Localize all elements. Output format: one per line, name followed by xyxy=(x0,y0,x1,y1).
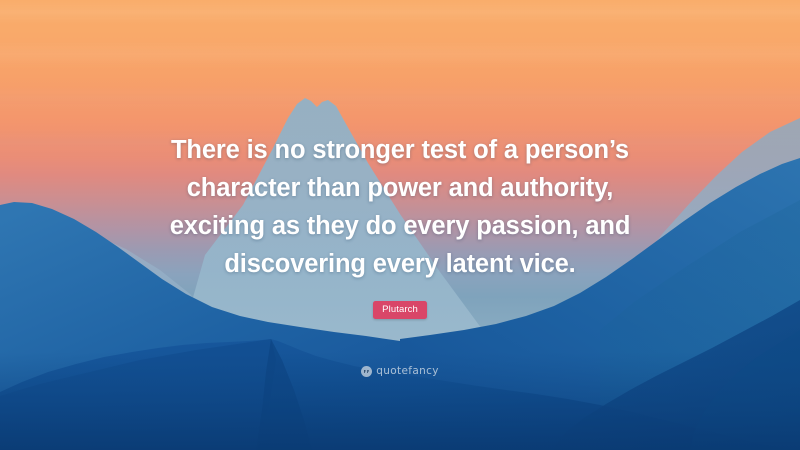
quote-image-canvas: There is no stronger test of a person’s … xyxy=(0,0,800,450)
quote-mark-icon xyxy=(361,366,372,377)
overlay-content: There is no stronger test of a person’s … xyxy=(0,0,800,450)
quote-text: There is no stronger test of a person’s … xyxy=(100,131,700,283)
author-badge[interactable]: Plutarch xyxy=(373,301,427,319)
quotefancy-watermark[interactable]: quotefancy xyxy=(0,366,800,377)
watermark-label: quotefancy xyxy=(376,366,439,377)
